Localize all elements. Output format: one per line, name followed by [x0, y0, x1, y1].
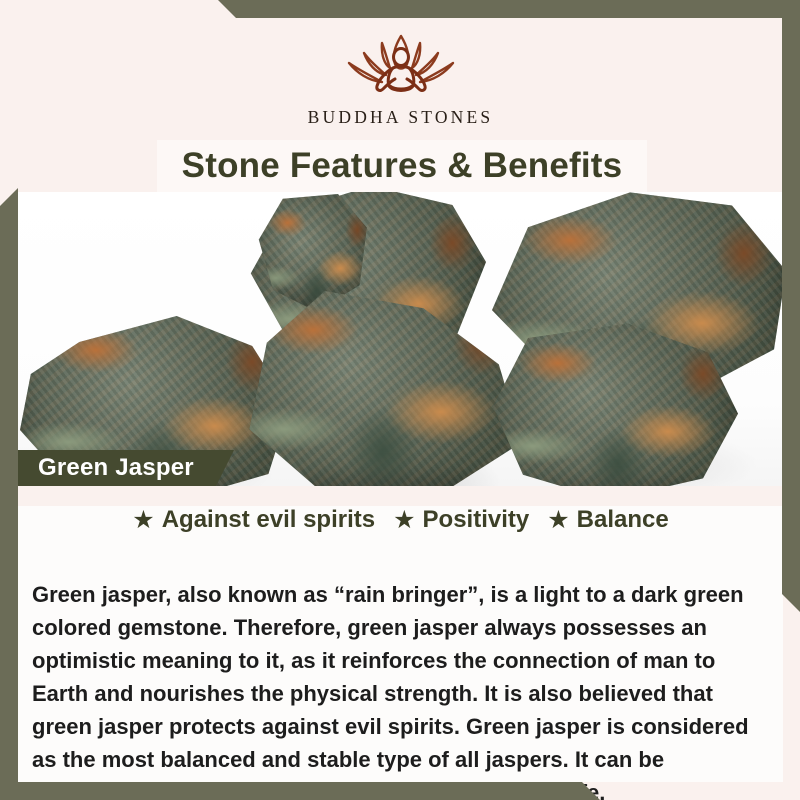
lotus-meditation-icon — [335, 30, 467, 104]
stone-name-badge: Green Jasper — [18, 450, 234, 486]
stone-name-label: Green Jasper — [38, 454, 194, 482]
benefit-item-2: ★ Positivity — [393, 506, 529, 534]
benefits-row: ★ Against evil spirits ★ Positivity ★ Ba… — [18, 506, 783, 534]
brand-name: BUDDHA STONES — [308, 107, 494, 128]
frame-top-accent — [0, 0, 800, 18]
star-icon: ★ — [547, 508, 569, 533]
benefit-label: Against evil spirits — [162, 506, 375, 534]
description-text: Green jasper, also known as “rain bringe… — [32, 578, 776, 800]
hero-image — [18, 192, 783, 494]
title-plate: Stone Features & Benefits — [157, 140, 647, 192]
brand-header: BUDDHA STONES — [18, 18, 783, 140]
benefit-label: Positivity — [423, 506, 530, 534]
page-title: Stone Features & Benefits — [182, 146, 623, 186]
frame-right-accent — [782, 0, 800, 612]
benefit-item-1: ★ Against evil spirits — [132, 506, 375, 534]
infographic-page: BUDDHA STONES Stone Features & Benefits … — [0, 0, 800, 800]
frame-left-accent — [0, 188, 18, 782]
star-icon: ★ — [393, 508, 415, 533]
benefit-label: Balance — [577, 506, 669, 534]
star-icon: ★ — [132, 508, 154, 533]
divider-strip — [18, 486, 783, 506]
benefit-item-3: ★ Balance — [547, 506, 668, 534]
